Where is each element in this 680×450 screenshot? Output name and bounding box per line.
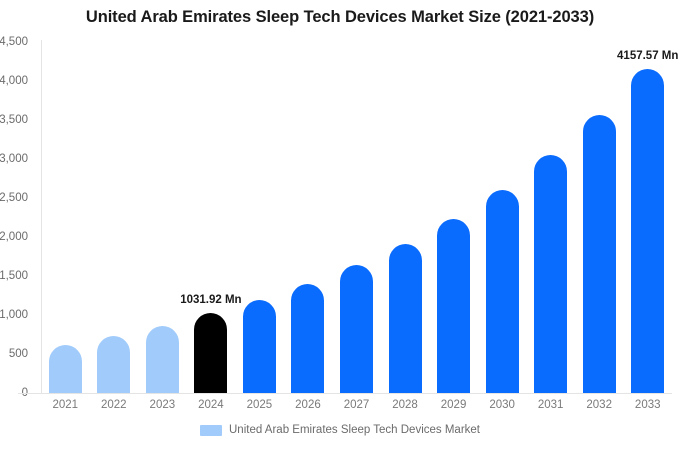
chart-container: United Arab Emirates Sleep Tech Devices … (0, 0, 680, 450)
x-axis-tick-label-2026: 2026 (295, 399, 321, 411)
legend-swatch[interactable] (200, 425, 222, 436)
bar-2021[interactable] (49, 345, 82, 393)
x-axis-tick-label-2028: 2028 (392, 399, 418, 411)
x-axis-tick-label-2032: 2032 (586, 399, 612, 411)
x-axis: 2021202220232024202520262027202820292030… (41, 399, 672, 417)
bar-2026[interactable] (291, 284, 324, 393)
x-axis-tick-label-2025: 2025 (247, 399, 273, 411)
bar-2023[interactable] (146, 326, 179, 393)
bar-value-label-2033: 4157.57 Mn (617, 50, 678, 62)
bar-2030[interactable] (486, 190, 519, 393)
x-axis-tick-label-2029: 2029 (441, 399, 467, 411)
x-axis-tick-label-2033: 2033 (635, 399, 661, 411)
x-axis-tick-label-2030: 2030 (489, 399, 515, 411)
bar-2022[interactable] (97, 336, 130, 393)
x-axis-tick-label-2027: 2027 (344, 399, 370, 411)
bar-2033[interactable] (631, 69, 664, 393)
bar-series: 1031.92 Mn4157.57 Mn (0, 0, 680, 450)
x-axis-tick-label-2023: 2023 (150, 399, 176, 411)
bar-2024[interactable] (194, 313, 227, 393)
bar-2028[interactable] (389, 244, 422, 393)
x-axis-tick-label-2022: 2022 (101, 399, 127, 411)
x-axis-tick-label-2031: 2031 (538, 399, 564, 411)
bar-2027[interactable] (340, 265, 373, 393)
bar-value-label-2024: 1031.92 Mn (180, 294, 241, 306)
bar-2032[interactable] (583, 115, 616, 393)
bar-2031[interactable] (534, 155, 567, 393)
bar-2029[interactable] (437, 219, 470, 393)
legend-label[interactable]: United Arab Emirates Sleep Tech Devices … (229, 424, 480, 436)
bar-2025[interactable] (243, 300, 276, 393)
x-axis-tick-label-2021: 2021 (52, 399, 78, 411)
chart-legend: United Arab Emirates Sleep Tech Devices … (0, 424, 680, 436)
x-axis-tick-label-2024: 2024 (198, 399, 224, 411)
